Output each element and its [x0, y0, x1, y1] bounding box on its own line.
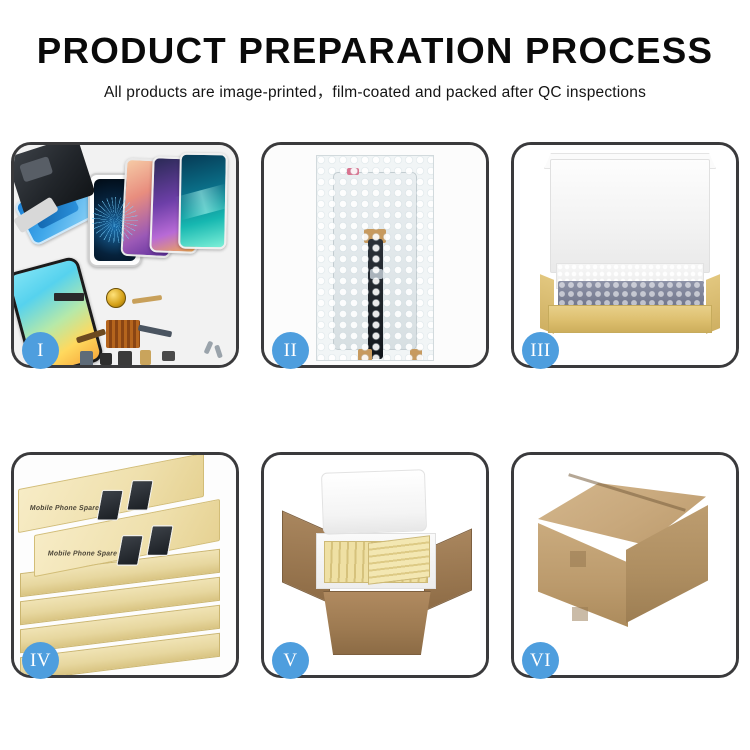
page-subtitle: All products are image-printed，film-coat…	[0, 80, 750, 102]
screw-2	[214, 345, 223, 359]
flex-cable-2	[138, 325, 173, 338]
box-phone-image-2	[126, 480, 153, 511]
box-spec-lines-1	[161, 468, 199, 494]
step-panel-4[interactable]: Mobile Phone Spare Parts Mobile Phone Sp…	[11, 452, 239, 678]
step-badge-4: IV	[22, 642, 59, 679]
page-title: PRODUCT PREPARATION PROCESS	[0, 32, 750, 70]
box-phone-image-1	[96, 490, 123, 521]
step-badge-5: V	[272, 642, 309, 679]
step-image-2	[264, 145, 486, 365]
step-panel-1[interactable]: I	[11, 142, 239, 368]
step-badge-6: VI	[522, 642, 559, 679]
small-part-2	[100, 353, 112, 365]
small-part-1	[80, 351, 93, 365]
foam-cooler-lid	[321, 469, 427, 535]
small-part-4	[140, 350, 151, 365]
box-spec-lines-2	[181, 514, 219, 540]
flex-cable-3	[132, 295, 162, 304]
speaker-module	[106, 288, 126, 308]
process-steps-grid: I II	[11, 142, 739, 678]
battery-connector	[54, 293, 84, 301]
step-panel-3[interactable]: III	[511, 142, 739, 368]
small-part-5	[162, 351, 175, 361]
product-preparation-process-page: PRODUCT PREPARATION PROCESS All products…	[0, 0, 750, 750]
step-image-1	[14, 145, 236, 365]
step-image-5	[264, 455, 486, 675]
step-panel-2[interactable]: II	[261, 142, 489, 368]
box-foam-lid	[550, 159, 710, 273]
carton-tape-mark-2	[572, 607, 588, 621]
packed-boxes-right	[368, 535, 430, 585]
step-image-6	[514, 455, 736, 675]
page-header: PRODUCT PREPARATION PROCESS All products…	[0, 0, 750, 102]
screw-1	[204, 341, 214, 355]
step-panel-6[interactable]: VI	[511, 452, 739, 678]
step-panel-5[interactable]: V	[261, 452, 489, 678]
step-image-4: Mobile Phone Spare Parts Mobile Phone Sp…	[14, 455, 236, 675]
box-phone-image-4	[146, 525, 173, 556]
step-image-3	[514, 145, 736, 365]
circuit-board-chip	[106, 320, 140, 348]
box-front-panel	[548, 305, 712, 333]
bubble-wrap-bag	[316, 155, 434, 361]
small-part-3	[118, 351, 132, 365]
phone-screen-teal	[178, 153, 228, 250]
box-stack: Mobile Phone Spare Parts Mobile Phone Sp…	[14, 455, 236, 675]
step-badge-3: III	[522, 332, 559, 369]
carton-body	[316, 591, 438, 655]
bubble-texture	[317, 156, 433, 360]
carton-tape-mark-1	[570, 551, 586, 567]
step-badge-2: II	[272, 332, 309, 369]
step-badge-1: I	[22, 332, 59, 369]
